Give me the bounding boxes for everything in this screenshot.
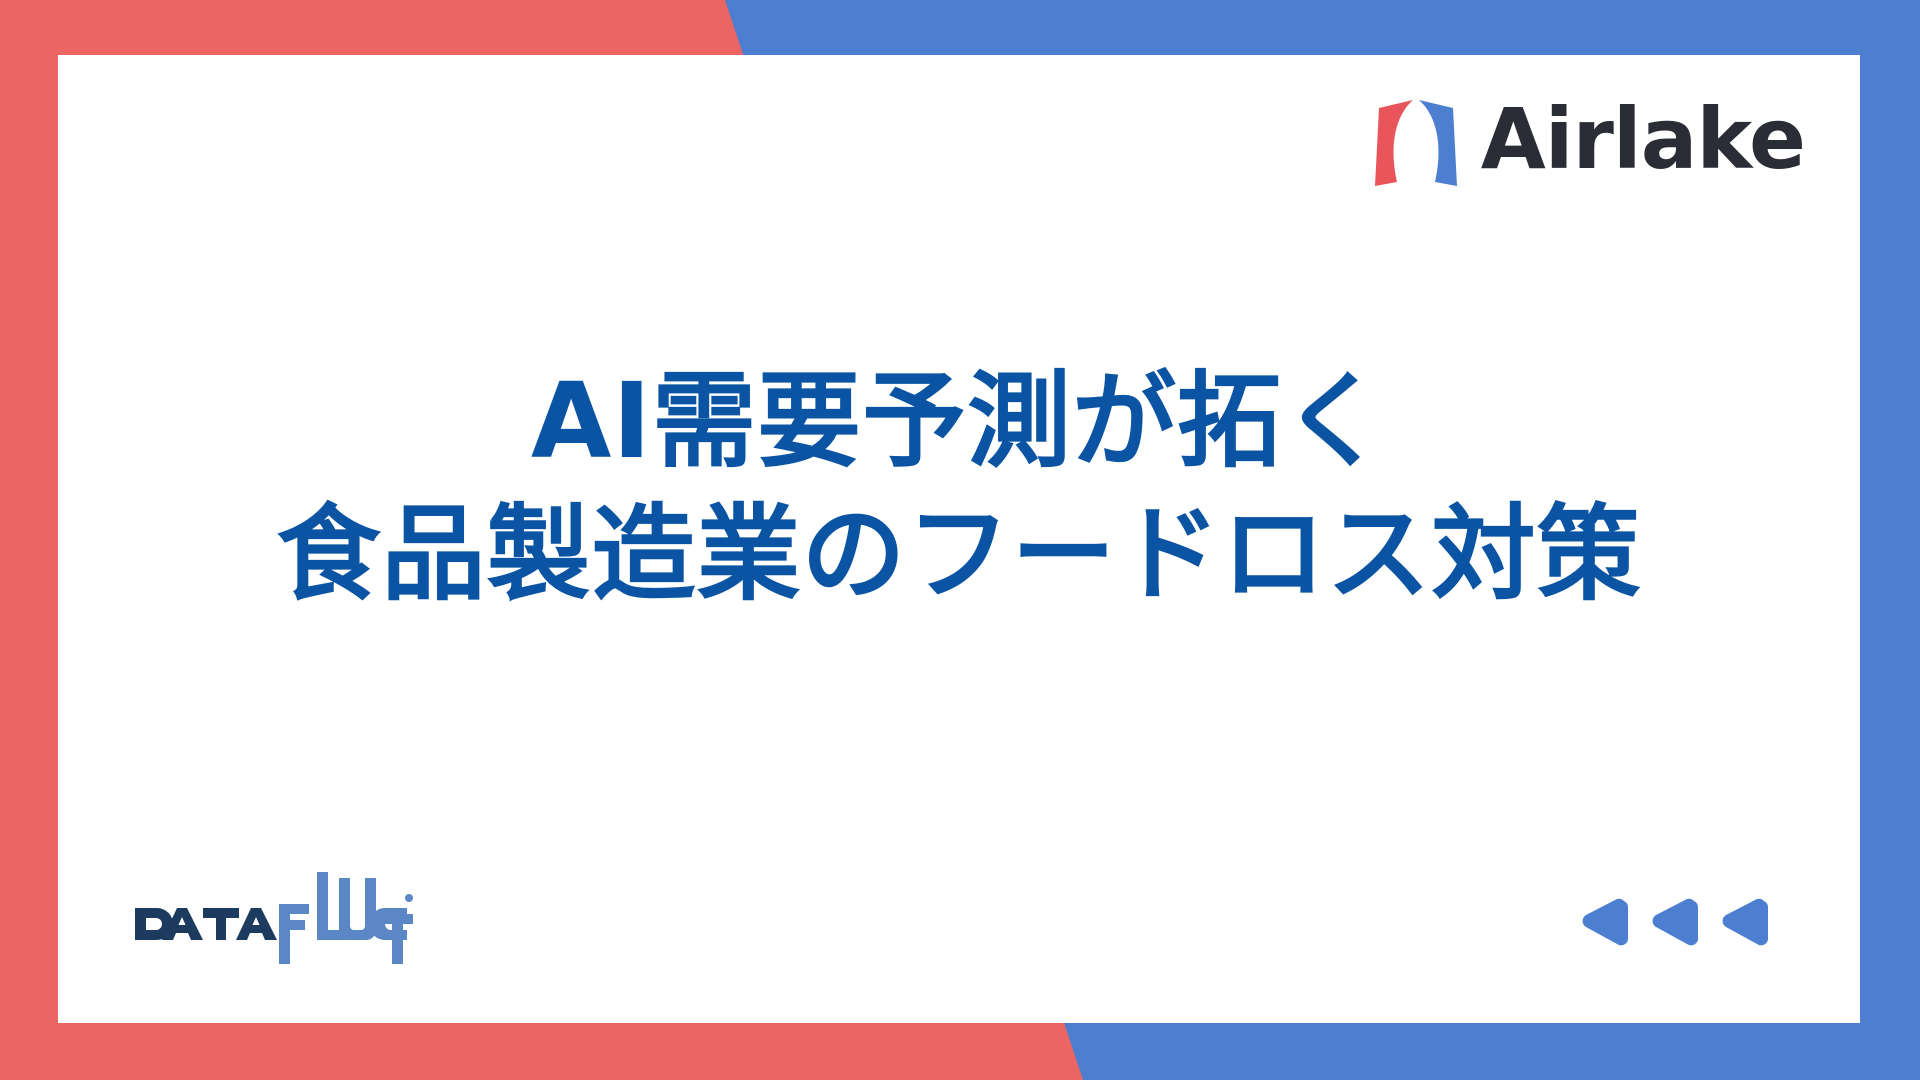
arrow-decoration-group <box>1576 893 1772 951</box>
datafluct-fluct-text <box>279 872 413 964</box>
airlake-wordmark: Airlake <box>1481 97 1805 181</box>
slide-title: AI需要予測が拓く 食品製造業のフードロス対策 <box>58 355 1860 621</box>
presentation-slide: Airlake AI需要予測が拓く 食品製造業のフードロス対策 <box>0 0 1920 1080</box>
left-triangle-icon-3 <box>1716 893 1772 951</box>
datafluct-logo <box>133 868 413 968</box>
airlake-mark-icon <box>1373 90 1459 188</box>
left-triangle-icon-2 <box>1646 893 1702 951</box>
airlake-logo: Airlake <box>1373 85 1805 193</box>
slide-content-card: Airlake AI需要予測が拓く 食品製造業のフードロス対策 <box>58 55 1860 1023</box>
left-triangle-icon-1 <box>1576 893 1632 951</box>
title-line-2: 食品製造業のフードロス対策 <box>58 488 1860 621</box>
datafluct-data-text <box>135 908 277 940</box>
title-line-1: AI需要予測が拓く <box>58 355 1860 488</box>
